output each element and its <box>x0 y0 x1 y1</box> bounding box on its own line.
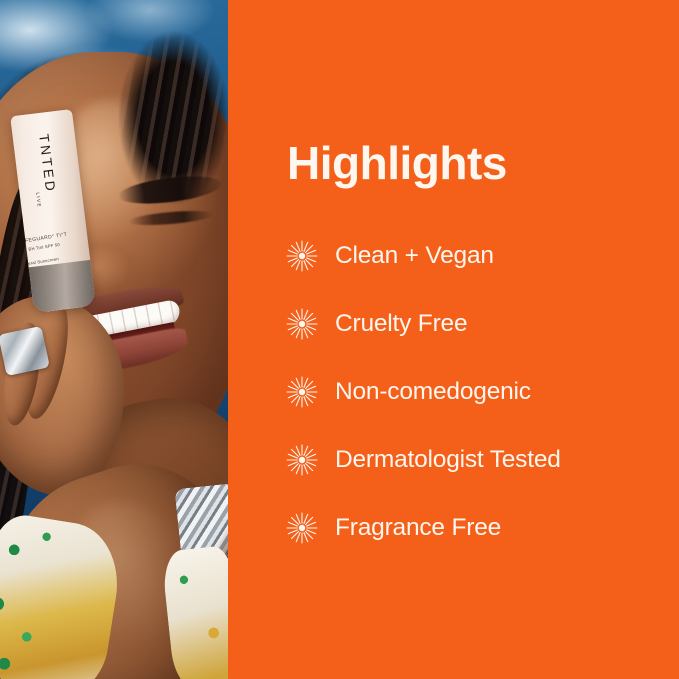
tube-cap <box>29 260 96 313</box>
list-item-label: Fragrance Free <box>335 514 501 542</box>
list-item: Fragrance Free <box>285 494 665 562</box>
list-item-label: Non-comedogenic <box>335 378 531 406</box>
sunburst-icon <box>285 239 319 273</box>
sunburst-icon <box>285 375 319 409</box>
list-item: Cruelty Free <box>285 290 665 358</box>
product-label-line-1: AFEGUARD° TI°T <box>21 232 68 245</box>
product-highlights-banner: TNTED LIVE AFEGUARD° TI°T BH Tint SPF 50… <box>0 0 679 679</box>
list-item-label: Clean + Vegan <box>335 242 494 270</box>
sunburst-icon <box>285 307 319 341</box>
sunburst-icon <box>285 443 319 477</box>
list-item: Clean + Vegan <box>285 222 665 290</box>
model-photo: TNTED LIVE AFEGUARD° TI°T BH Tint SPF 50… <box>0 0 228 679</box>
list-item-label: Cruelty Free <box>335 310 467 338</box>
page-title: Highlights <box>287 140 507 186</box>
highlights-list: Clean + Vegan <box>285 222 665 562</box>
list-item-label: Dermatologist Tested <box>335 446 561 474</box>
product-label-line-2: BH Tint SPF 50 <box>28 242 60 252</box>
list-item: Dermatologist Tested <box>285 426 665 494</box>
highlights-panel: Highlights <box>228 0 679 679</box>
sunburst-icon <box>285 511 319 545</box>
list-item: Non-comedogenic <box>285 358 665 426</box>
